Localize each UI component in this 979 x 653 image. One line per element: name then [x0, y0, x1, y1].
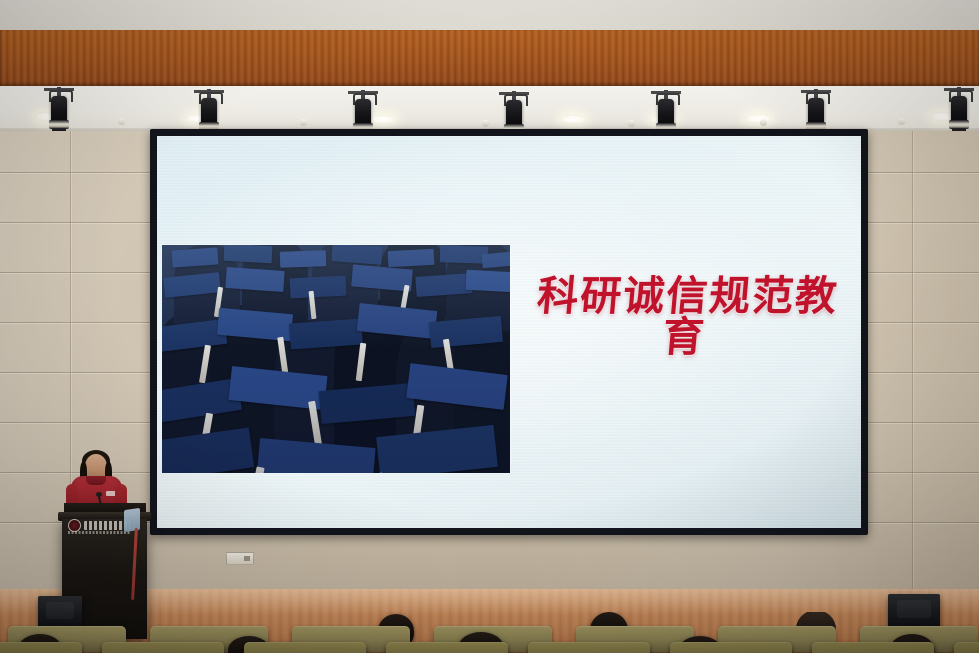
audience-seat	[244, 642, 366, 653]
microphone-icon	[96, 492, 102, 497]
university-name-subline	[68, 531, 130, 534]
ceiling-sensor	[628, 120, 635, 127]
stage-spotlight	[48, 88, 70, 134]
graduation-ceremony-photo	[162, 245, 510, 473]
ceiling-sensor	[482, 120, 489, 127]
photo-lighting-haze	[162, 245, 510, 473]
audience-seat	[102, 642, 224, 653]
wall-seam	[912, 131, 913, 591]
audience-seat	[386, 642, 508, 653]
screen-surface: 科研诚信规范教育	[157, 136, 861, 528]
audience-seat	[812, 642, 934, 653]
audience-seat	[670, 642, 792, 653]
audience-seat	[528, 642, 650, 653]
wood-ceiling-panel	[0, 30, 979, 86]
presenter-collar	[86, 476, 106, 485]
ceiling-sensor	[300, 119, 307, 126]
audience-seating	[0, 612, 979, 653]
white-soffit	[0, 86, 979, 132]
wall-outlet-plate	[226, 552, 254, 565]
slide-title: 科研诚信规范教育	[515, 276, 856, 358]
stage-spotlight	[948, 88, 970, 134]
downlight	[560, 115, 586, 124]
audience-seat	[954, 642, 979, 653]
downlight	[745, 114, 771, 123]
audience-seat	[0, 642, 82, 653]
ceiling-sensor	[898, 118, 905, 125]
auditorium-scene: 科研诚信规范教育	[0, 0, 979, 653]
ceiling-sensor	[760, 119, 767, 126]
projection-screen[interactable]: 科研诚信规范教育	[150, 129, 868, 535]
ceiling-sensor	[118, 118, 125, 125]
ceiling-surface	[0, 0, 979, 32]
